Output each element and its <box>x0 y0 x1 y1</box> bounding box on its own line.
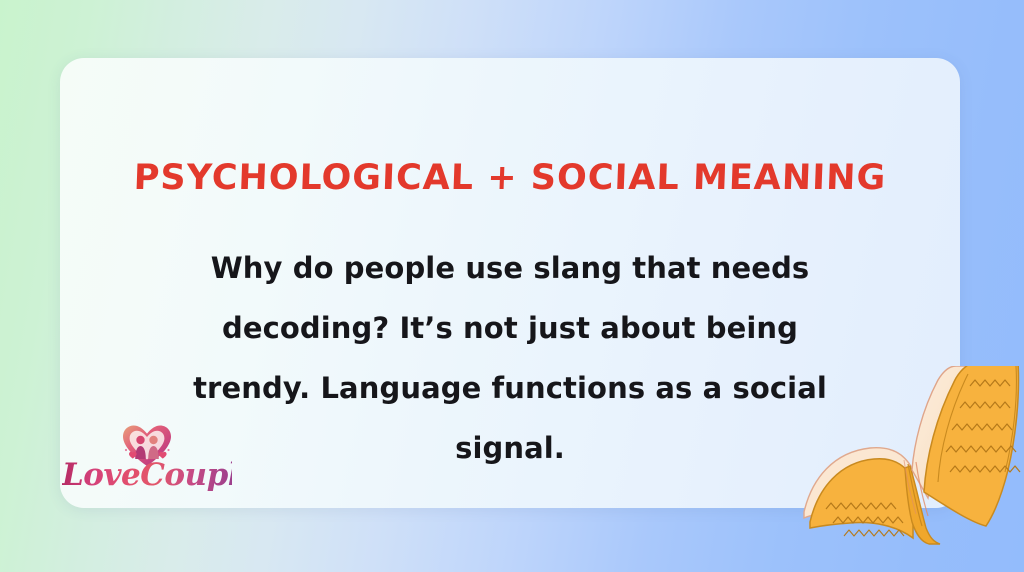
body-paragraph: Why do people use slang that needs decod… <box>190 238 830 478</box>
body-line: signal. <box>190 418 830 478</box>
brand-name: LoveCouplez <box>62 460 232 491</box>
open-book-icon <box>800 366 1024 552</box>
slide-canvas: PSYCHOLOGICAL + SOCIAL MEANING Why do pe… <box>0 0 1024 572</box>
body-line: trendy. Language functions as a social <box>190 358 830 418</box>
body-line: decoding? It’s not just about being <box>190 298 830 358</box>
body-line: Why do people use slang that needs <box>190 238 830 298</box>
brand-logo: LoveCouplez <box>62 424 232 510</box>
page-title: PSYCHOLOGICAL + SOCIAL MEANING <box>59 158 960 198</box>
